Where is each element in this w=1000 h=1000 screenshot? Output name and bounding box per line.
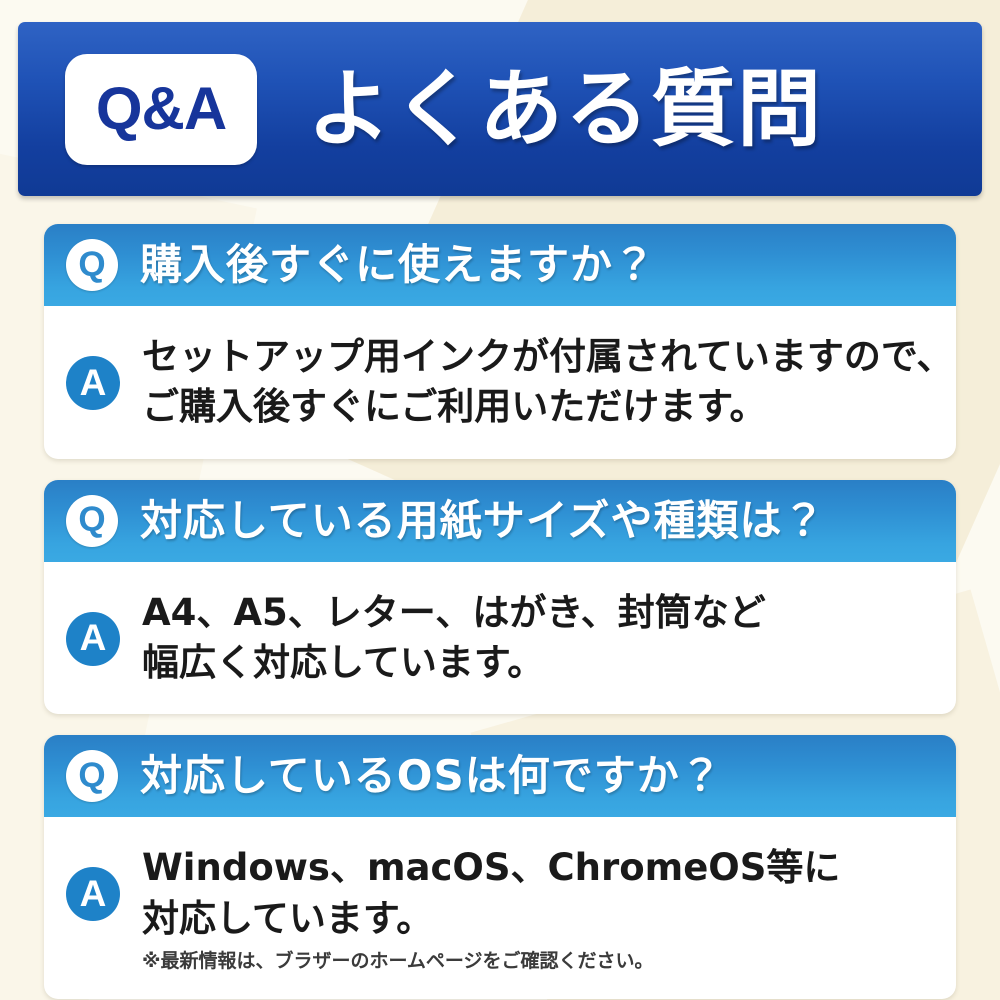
answer-text: Windows、macOS、ChromeOS等に 対応しています。 ※最新情報は… <box>142 839 840 972</box>
answer-mark-icon: A <box>66 867 120 921</box>
faq-page: Q&A よくある質問 Q 購入後すぐに使えますか？ A セットアップ用インクが付… <box>0 0 1000 1000</box>
answer-body: A A4、A5、レター、はがき、封筒など 幅広く対応しています。 <box>44 562 956 715</box>
answer-icon-letter: A <box>80 875 107 912</box>
question-bar[interactable]: Q 購入後すぐに使えますか？ <box>44 224 956 306</box>
question-text: 対応している用紙サイズや種類は？ <box>140 500 825 542</box>
answer-mark-icon: A <box>66 612 120 666</box>
faq-card[interactable]: Q 対応している用紙サイズや種類は？ A A4、A5、レター、はがき、封筒など … <box>44 480 956 715</box>
question-mark-icon: Q <box>66 239 118 291</box>
answer-line: 幅広く対応しています。 <box>142 638 766 688</box>
answer-line: Windows、macOS、ChromeOS等に <box>142 843 840 893</box>
faq-list: Q 購入後すぐに使えますか？ A セットアップ用インクが付属されていますので、 … <box>44 224 956 1000</box>
question-icon-letter: Q <box>78 502 105 537</box>
header-banner: Q&A よくある質問 <box>18 22 982 196</box>
answer-body: A Windows、macOS、ChromeOS等に 対応しています。 ※最新情… <box>44 817 956 998</box>
answer-text: セットアップ用インクが付属されていますので、 ご購入後すぐにご利用いただけます。 <box>142 328 953 433</box>
question-icon-letter: Q <box>78 247 105 282</box>
answer-icon-letter: A <box>80 619 107 656</box>
question-text: 購入後すぐに使えますか？ <box>140 244 656 286</box>
qa-badge: Q&A <box>65 54 257 165</box>
answer-text: A4、A5、レター、はがき、封筒など 幅広く対応しています。 <box>142 584 766 689</box>
question-bar[interactable]: Q 対応している用紙サイズや種類は？ <box>44 480 956 562</box>
question-mark-icon: Q <box>66 750 118 802</box>
question-bar[interactable]: Q 対応しているOSは何ですか？ <box>44 735 956 817</box>
answer-footnote: ※最新情報は、ブラザーのホームページをご確認ください。 <box>142 950 840 973</box>
answer-icon-letter: A <box>80 364 107 401</box>
question-text: 対応しているOSは何ですか？ <box>140 755 723 797</box>
answer-body: A セットアップ用インクが付属されていますので、 ご購入後すぐにご利用いただけま… <box>44 306 956 459</box>
page-title: よくある質問 <box>307 67 823 151</box>
question-icon-letter: Q <box>78 758 105 793</box>
answer-mark-icon: A <box>66 356 120 410</box>
faq-card[interactable]: Q 対応しているOSは何ですか？ A Windows、macOS、ChromeO… <box>44 735 956 998</box>
answer-line: A4、A5、レター、はがき、封筒など <box>142 588 766 638</box>
faq-card[interactable]: Q 購入後すぐに使えますか？ A セットアップ用インクが付属されていますので、 … <box>44 224 956 459</box>
question-mark-icon: Q <box>66 495 118 547</box>
answer-line: セットアップ用インクが付属されていますので、 <box>142 332 953 382</box>
qa-badge-label: Q&A <box>96 79 226 139</box>
answer-line: ご購入後すぐにご利用いただけます。 <box>142 382 953 432</box>
answer-line: 対応しています。 <box>142 894 840 944</box>
